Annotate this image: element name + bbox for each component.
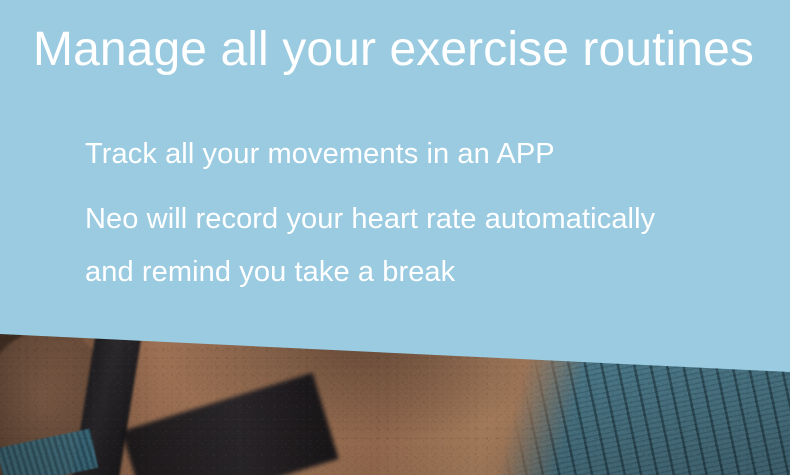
hero-banner: Manage all your exercise routines Track … xyxy=(0,0,790,475)
banner-headline: Manage all your exercise routines xyxy=(33,22,754,79)
banner-subheading-2: Neo will record your heart rate automati… xyxy=(85,193,765,246)
banner-subheading-block: Track all your movements in an APP Neo w… xyxy=(85,128,765,299)
banner-subheading-3: and remind you take a break xyxy=(85,246,765,299)
banner-subheading-1: Track all your movements in an APP xyxy=(85,128,765,181)
banner-text-layer: Manage all your exercise routines Track … xyxy=(0,0,790,380)
